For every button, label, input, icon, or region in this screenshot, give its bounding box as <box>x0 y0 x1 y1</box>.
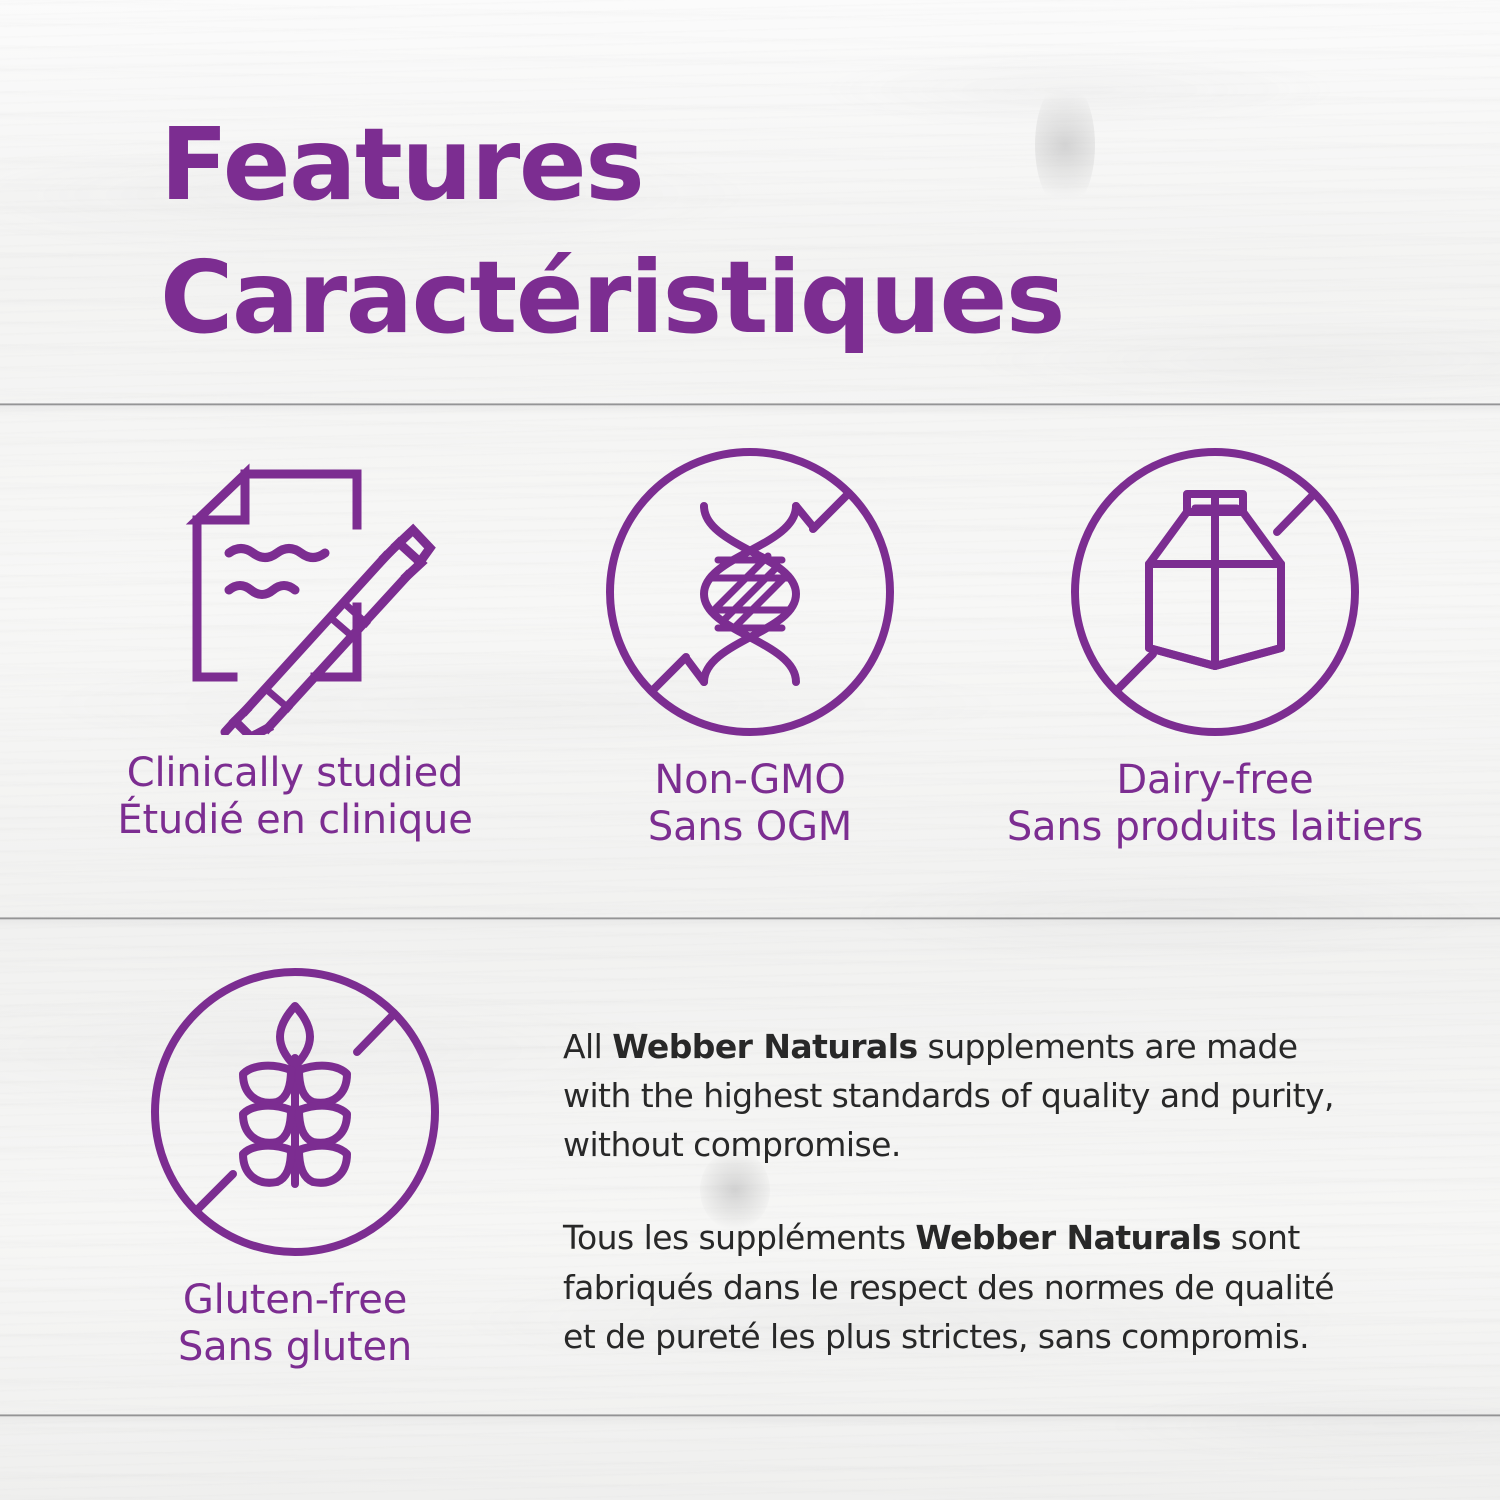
feature-clinically-studied: Clinically studied Étudié en clinique <box>45 455 545 844</box>
feature-label-fr: Sans produits laitiers <box>945 804 1485 851</box>
feature-label-en: Clinically studied <box>45 750 545 797</box>
statement-fr-before: Tous les suppléments <box>563 1218 915 1257</box>
document-with-pen-icon <box>45 455 545 740</box>
plank-seam-top <box>0 403 1500 406</box>
feature-label-fr: Sans OGM <box>560 804 940 851</box>
feature-caption: Dairy-free Sans produits laitiers <box>945 757 1485 851</box>
feature-caption: Non-GMO Sans OGM <box>560 757 940 851</box>
feature-label-fr: Sans gluten <box>95 1324 495 1371</box>
page-title-line-en: Features <box>160 98 1064 231</box>
feature-caption: Gluten-free Sans gluten <box>95 1277 495 1371</box>
feature-caption: Clinically studied Étudié en clinique <box>45 750 545 844</box>
brand-name-fr: Webber Naturals <box>915 1218 1220 1257</box>
brand-statement-en: All Webber Naturals supplements are made… <box>563 1022 1373 1169</box>
feature-label-en: Dairy-free <box>945 757 1485 804</box>
no-milk-carton-icon <box>945 442 1485 747</box>
feature-label-fr: Étudié en clinique <box>45 797 545 844</box>
feature-dairy-free: Dairy-free Sans produits laitiers <box>945 442 1485 851</box>
page-title: Features Caractéristiques <box>160 98 1064 364</box>
feature-label-en: Gluten-free <box>95 1277 495 1324</box>
no-wheat-stalk-icon <box>95 962 495 1267</box>
no-dna-helix-icon <box>560 442 940 747</box>
feature-gluten-free: Gluten-free Sans gluten <box>95 962 495 1371</box>
feature-label-en: Non-GMO <box>560 757 940 804</box>
plank-seam-bottom <box>0 1414 1500 1417</box>
feature-panel: Features Caractéristiques <box>0 0 1500 1500</box>
brand-statement-fr: Tous les suppléments Webber Naturals son… <box>563 1213 1373 1360</box>
feature-non-gmo: Non-GMO Sans OGM <box>560 442 940 851</box>
brand-statement: All Webber Naturals supplements are made… <box>563 1022 1373 1361</box>
page-title-line-fr: Caractéristiques <box>160 231 1064 364</box>
plank-seam-middle <box>0 917 1500 920</box>
statement-en-before: All <box>563 1027 612 1066</box>
brand-name-en: Webber Naturals <box>612 1027 917 1066</box>
